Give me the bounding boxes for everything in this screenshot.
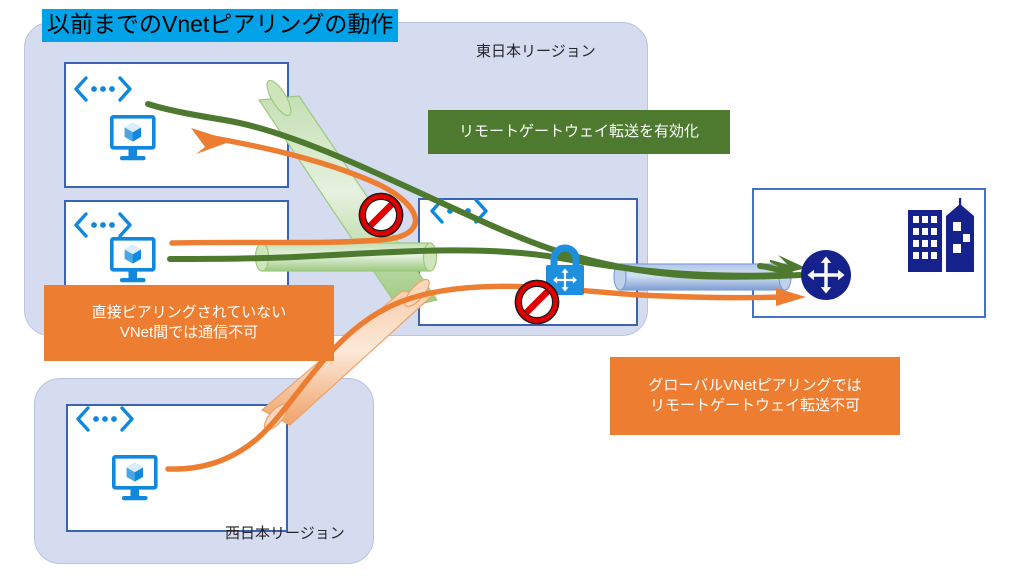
diagram-canvas: 以前までのVnetピアリングの動作 東日本リージョン 西日本リージョン リモート… bbox=[0, 0, 1024, 576]
callout-line-2: VNet間では通信不可 bbox=[120, 323, 258, 343]
callout-remote-gateway-transit-enabled: リモートゲートウェイ転送を有効化 bbox=[428, 110, 730, 154]
office-building-icon bbox=[908, 198, 974, 272]
page-title: 以前までのVnetピアリングの動作 bbox=[42, 9, 398, 42]
region-label-west-japan: 西日本リージョン bbox=[225, 522, 345, 543]
callout-line-2: リモートゲートウェイ転送不可 bbox=[650, 396, 860, 416]
callout-line: リモートゲートウェイ転送を有効化 bbox=[459, 122, 699, 142]
callout-no-transitive-peering: 直接ピアリングされていない VNet間では通信不可 bbox=[44, 285, 334, 361]
router-icon bbox=[801, 250, 851, 300]
callout-line-1: グローバルVNetピアリングでは bbox=[648, 376, 861, 396]
prohibition-sign-gateway-icon bbox=[515, 280, 558, 323]
callout-global-peering-no-gateway-transit: グローバルVNetピアリングでは リモートゲートウェイ転送不可 bbox=[610, 357, 900, 435]
region-label-east-japan: 東日本リージョン bbox=[476, 40, 596, 61]
callout-line-1: 直接ピアリングされていない bbox=[92, 303, 287, 323]
prohibition-sign-peering-icon bbox=[359, 193, 402, 236]
